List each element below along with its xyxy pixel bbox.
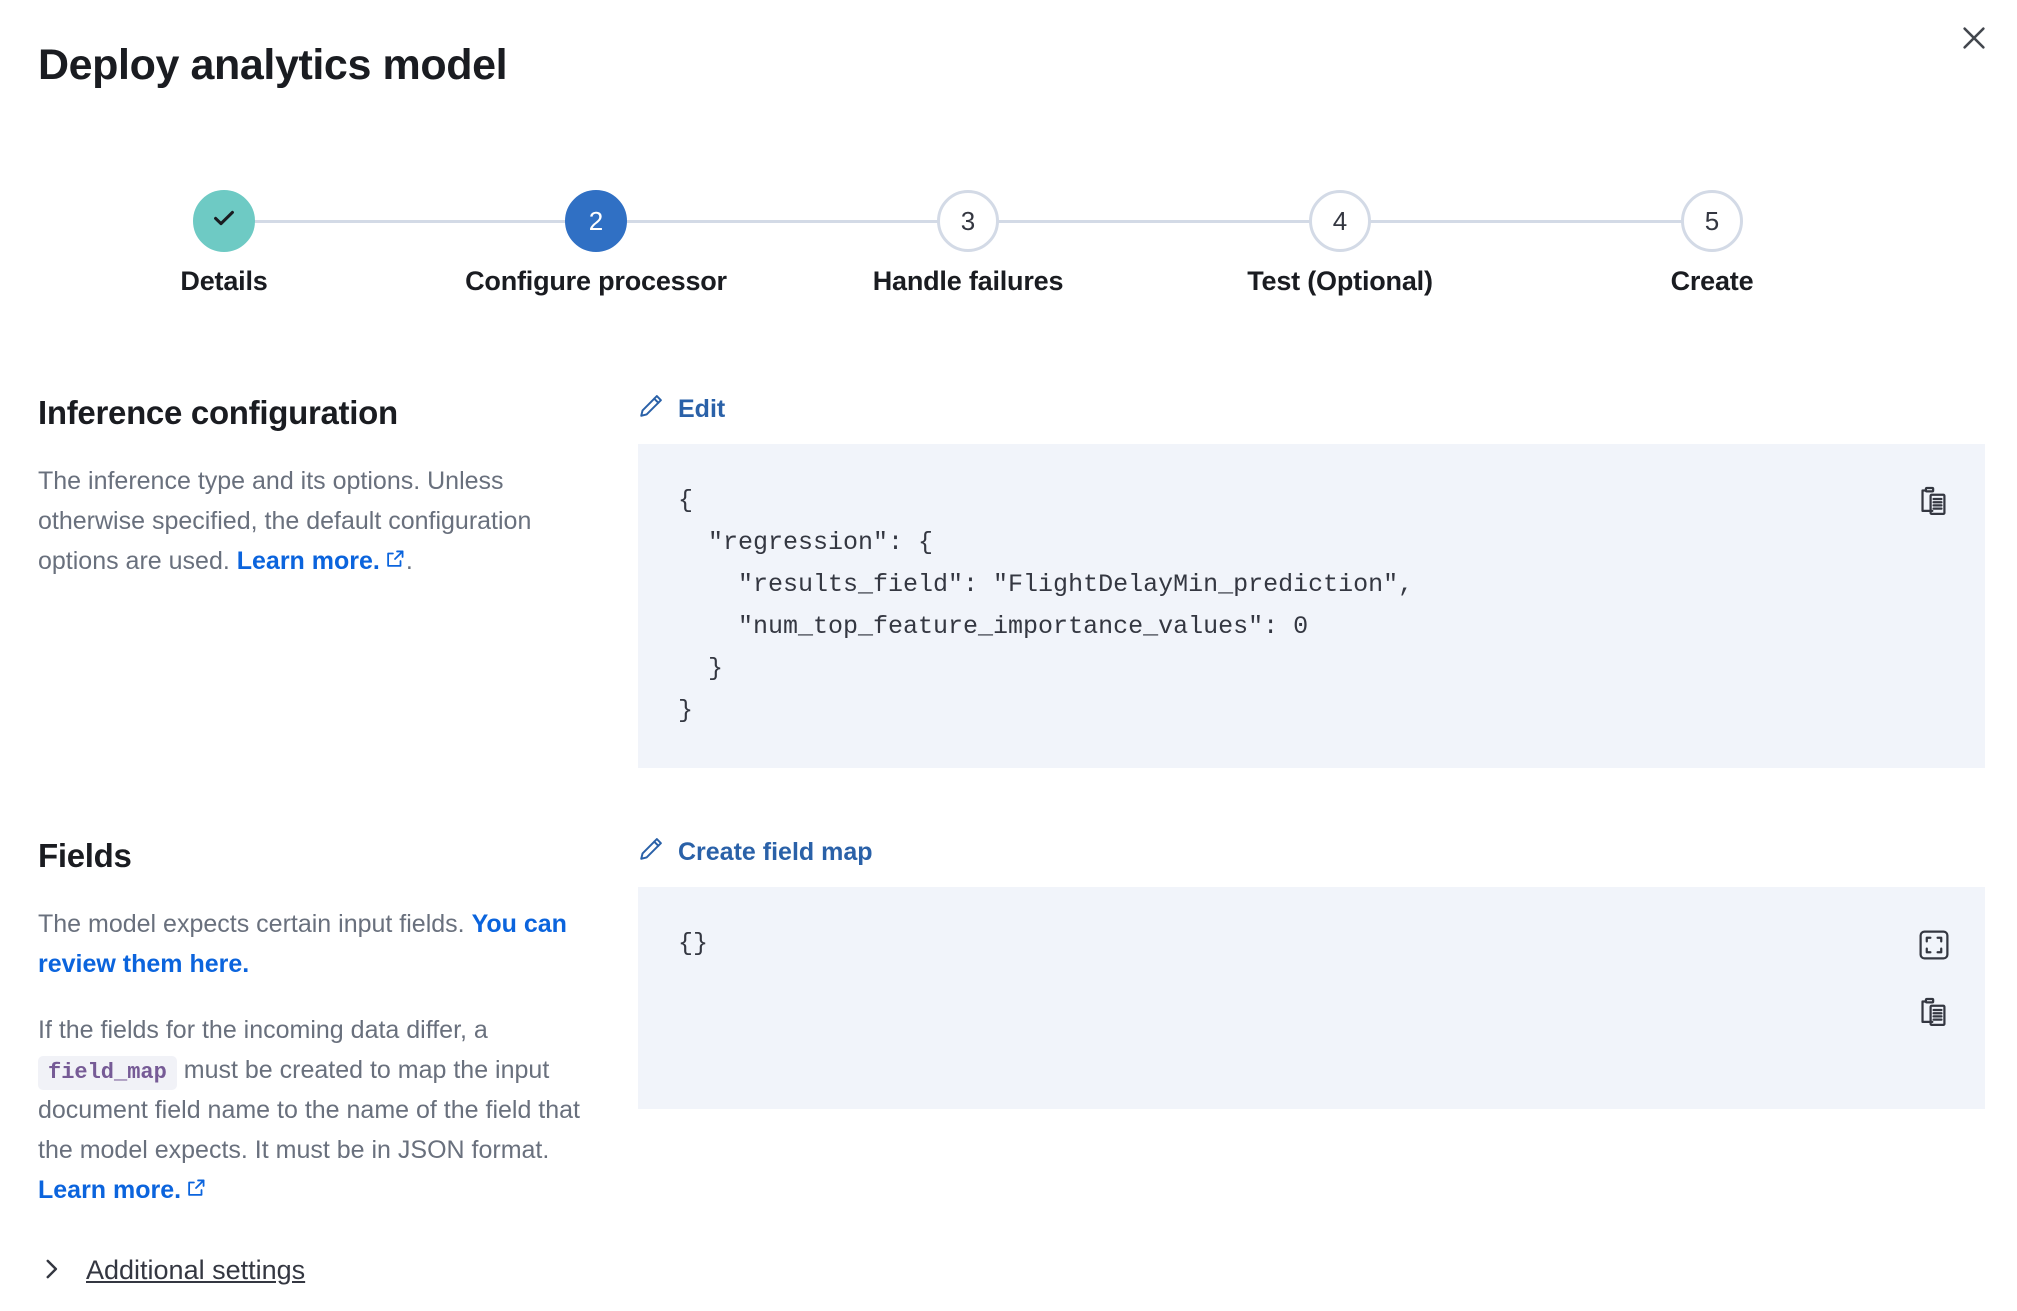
- fields-text-2: If the fields for the incoming data diff…: [38, 1010, 598, 1211]
- edit-inference-config-label: Edit: [678, 395, 725, 424]
- copy-field-map-button[interactable]: [1911, 991, 1957, 1037]
- copy-icon: [1917, 485, 1951, 522]
- edit-inference-config-button[interactable]: Edit: [638, 393, 725, 426]
- inference-configuration-editor: Edit { "regression": { "results_field": …: [638, 393, 1985, 768]
- section-spacer: [38, 768, 1985, 836]
- inference-configuration-text: The inference type and its options. Unle…: [38, 461, 598, 582]
- step-indicator-test-optional[interactable]: 4: [1309, 190, 1371, 252]
- stepper-step-2[interactable]: 2 Configure processor: [410, 190, 782, 252]
- inference-learn-more-link[interactable]: Learn more.: [237, 547, 380, 575]
- page-title: Deploy analytics model: [38, 40, 507, 90]
- step-indicator-create[interactable]: 5: [1681, 190, 1743, 252]
- inference-text-part2: .: [406, 547, 413, 575]
- create-field-map-label: Create field map: [678, 838, 873, 867]
- expand-field-map-button[interactable]: [1911, 923, 1957, 969]
- inference-configuration-heading: Inference configuration: [38, 393, 598, 433]
- close-icon: [1959, 23, 1989, 53]
- pencil-icon: [638, 836, 664, 869]
- field-map-code: {}: [678, 923, 1895, 965]
- fields-description: Fields The model expects certain input f…: [38, 836, 638, 1211]
- inference-config-code: { "regression": { "results_field": "Flig…: [678, 480, 1895, 732]
- step-label-details[interactable]: Details: [180, 266, 267, 297]
- inference-config-code-block: { "regression": { "results_field": "Flig…: [638, 444, 1985, 768]
- step-label-test-optional[interactable]: Test (Optional): [1247, 266, 1433, 297]
- fields-heading: Fields: [38, 836, 598, 876]
- fields-text2-part1: If the fields for the incoming data diff…: [38, 1016, 488, 1044]
- external-link-icon: [185, 1171, 207, 1211]
- fields-section: Fields The model expects certain input f…: [38, 836, 1985, 1211]
- additional-settings-toggle[interactable]: Additional settings: [38, 1255, 305, 1286]
- field-map-code-block: {}: [638, 887, 1985, 1109]
- chevron-right-icon: [38, 1256, 64, 1285]
- field-map-code-chip: field_map: [38, 1056, 177, 1090]
- fields-editor: Create field map {}: [638, 836, 1985, 1109]
- additional-settings-label: Additional settings: [86, 1255, 305, 1286]
- step-label-configure-processor[interactable]: Configure processor: [465, 266, 727, 297]
- check-icon: [209, 203, 239, 240]
- external-link-icon: [384, 542, 406, 582]
- close-modal-button[interactable]: [1953, 17, 1995, 59]
- expand-icon: [1917, 928, 1951, 965]
- step-label-handle-failures[interactable]: Handle failures: [873, 266, 1064, 297]
- fields-text-1: The model expects certain input fields. …: [38, 904, 598, 984]
- wizard-stepper: Details 2 Configure processor 3 Handle f…: [38, 190, 1898, 300]
- inference-configuration-description: Inference configuration The inference ty…: [38, 393, 638, 582]
- step-indicator-details[interactable]: [193, 190, 255, 252]
- step-indicator-configure-processor[interactable]: 2: [565, 190, 627, 252]
- fields-learn-more-link[interactable]: Learn more.: [38, 1176, 181, 1204]
- step-indicator-handle-failures[interactable]: 3: [937, 190, 999, 252]
- stepper-step-5[interactable]: 5 Create: [1526, 190, 1898, 252]
- inference-configuration-section: Inference configuration The inference ty…: [38, 393, 1985, 768]
- inference-config-code-actions: [1911, 480, 1957, 526]
- stepper-step-1[interactable]: Details: [38, 190, 410, 252]
- copy-icon: [1917, 996, 1951, 1033]
- stepper-step-4[interactable]: 4 Test (Optional): [1154, 190, 1526, 252]
- step-label-create[interactable]: Create: [1671, 266, 1754, 297]
- pencil-icon: [638, 393, 664, 426]
- stepper-step-3[interactable]: 3 Handle failures: [782, 190, 1154, 252]
- wizard-content: Inference configuration The inference ty…: [38, 393, 1985, 1211]
- fields-text1-part1: The model expects certain input fields.: [38, 910, 472, 938]
- field-map-code-actions: [1911, 923, 1957, 1037]
- create-field-map-button[interactable]: Create field map: [638, 836, 873, 869]
- copy-inference-config-button[interactable]: [1911, 480, 1957, 526]
